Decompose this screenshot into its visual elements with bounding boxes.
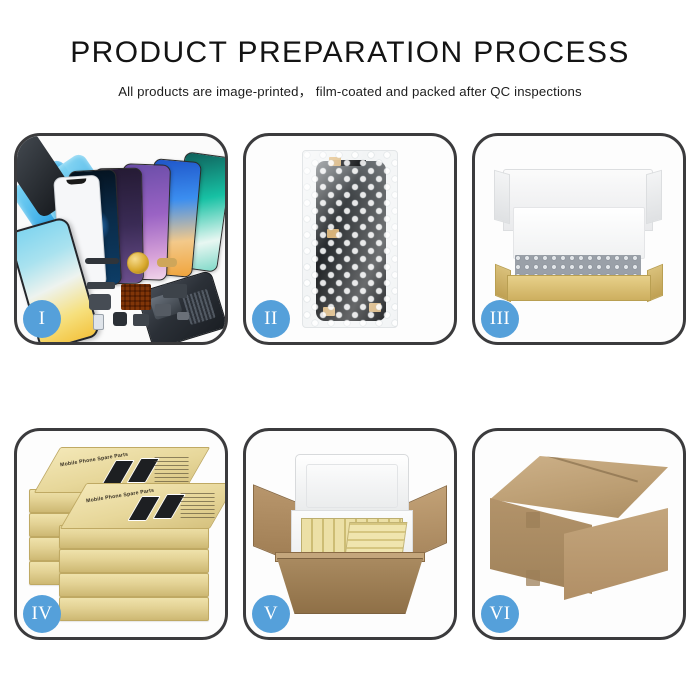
kraft-box-lid: Mobile Phone Spare Parts bbox=[60, 483, 225, 529]
sealed-carton-group bbox=[490, 454, 668, 614]
carton-tab-icon bbox=[526, 512, 540, 528]
box-stack-group: Mobile Phone Spare Parts Mobile Phone Sp… bbox=[29, 447, 219, 627]
module-icon bbox=[133, 314, 149, 326]
panel-step-5: V bbox=[243, 428, 457, 640]
connector-icon bbox=[89, 294, 111, 310]
step-badge-1: I bbox=[23, 300, 61, 338]
step-badge-6: VI bbox=[481, 595, 519, 633]
chip-icon bbox=[113, 312, 127, 326]
foam-lid-icon bbox=[295, 454, 409, 518]
spec-lines-icon bbox=[155, 456, 189, 482]
screw-set-icon bbox=[177, 312, 189, 320]
step-badge-5: V bbox=[252, 595, 290, 633]
page-subtitle: All products are image-printed， film-coa… bbox=[0, 81, 700, 100]
panel-step-3: III bbox=[472, 133, 686, 345]
notch-icon bbox=[66, 178, 86, 184]
carton-tab-icon bbox=[526, 570, 540, 586]
page-title: PRODUCT PREPARATION PROCESS bbox=[0, 36, 700, 70]
copper-grid-icon bbox=[121, 284, 151, 310]
carton-front-icon bbox=[277, 558, 423, 614]
flex-cable-icon bbox=[85, 258, 119, 264]
kraft-box-edge bbox=[59, 573, 209, 597]
module-icon bbox=[163, 284, 187, 298]
panel-step-6: VI bbox=[472, 428, 686, 640]
spare-parts-group bbox=[83, 254, 199, 332]
header: PRODUCT PREPARATION PROCESS All products… bbox=[0, 0, 700, 100]
panel-step-4: Mobile Phone Spare Parts Mobile Phone Sp… bbox=[14, 428, 228, 640]
carton-seam-icon bbox=[522, 448, 638, 483]
gold-connector-icon bbox=[157, 258, 177, 267]
step-badge-2: II bbox=[252, 300, 290, 338]
poster-root: PRODUCT PREPARATION PROCESS All products… bbox=[0, 0, 700, 700]
process-grid: I II bbox=[14, 133, 686, 649]
panel-step-2: II bbox=[243, 133, 457, 345]
inner-box-group bbox=[491, 163, 667, 315]
kraft-box-edge bbox=[59, 597, 209, 621]
plastic-sheen bbox=[303, 151, 397, 327]
kraft-box-edge bbox=[59, 549, 209, 573]
kraft-boxes-inside-icon bbox=[345, 522, 408, 556]
speaker-coil-icon bbox=[127, 252, 149, 274]
step-badge-3: III bbox=[481, 300, 519, 338]
foam-sheet-icon bbox=[513, 207, 645, 259]
bubble-wrap-bag bbox=[302, 150, 398, 328]
box-front-icon bbox=[507, 275, 651, 301]
step-badge-4: IV bbox=[23, 595, 61, 633]
sim-tray-icon bbox=[93, 314, 104, 330]
spec-lines-icon bbox=[181, 492, 215, 518]
camera-module-icon bbox=[155, 304, 171, 316]
flex-cable-icon bbox=[87, 282, 115, 289]
panel-step-1: I bbox=[14, 133, 228, 345]
carton-group bbox=[255, 448, 445, 620]
